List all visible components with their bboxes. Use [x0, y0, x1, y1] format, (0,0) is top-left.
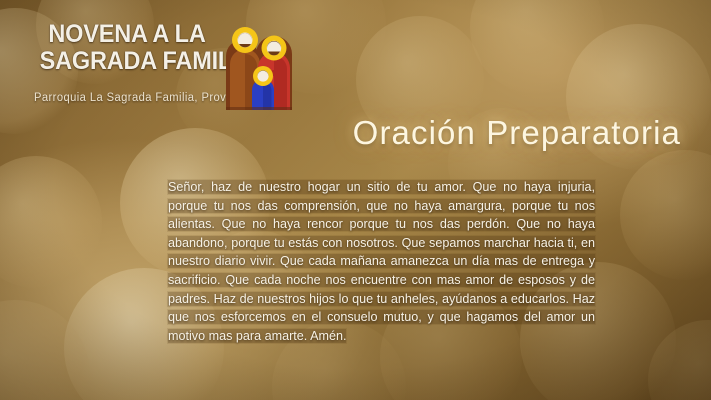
- presentation-slide: NOVENA A LA SAGRADA FAMILIA Parroquia La…: [0, 0, 711, 400]
- logo-wordmark: NOVENA A LA SAGRADA FAMILIA: [34, 22, 220, 73]
- holy-family-illustration-icon: [222, 20, 296, 110]
- logo-title-line-2: SAGRADA FAMILIA: [40, 49, 215, 73]
- logo-block: NOVENA A LA SAGRADA FAMILIA Parroquia La…: [34, 22, 296, 122]
- prayer-text-block: Señor, haz de nuestro hogar un sitio de …: [168, 178, 595, 345]
- page-title: Oración Preparatoria: [353, 114, 681, 152]
- logo-title-line-1: NOVENA A LA: [40, 22, 215, 46]
- prayer-text: Señor, haz de nuestro hogar un sitio de …: [168, 180, 595, 343]
